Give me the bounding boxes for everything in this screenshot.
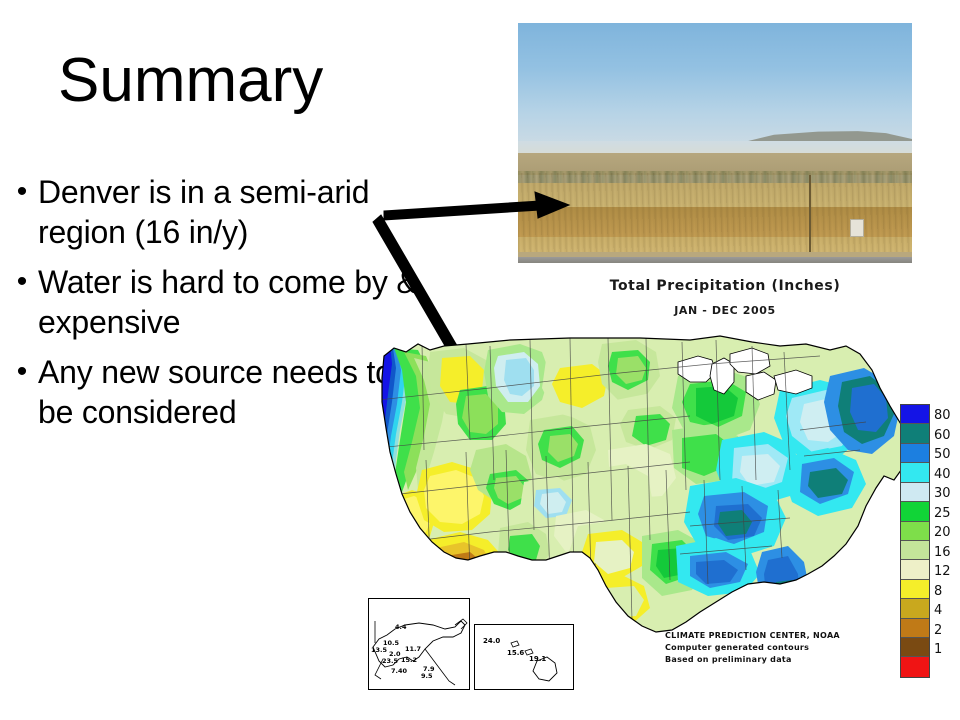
svg-text:13.5: 13.5 — [371, 646, 388, 654]
legend-swatch — [901, 560, 929, 579]
credit-line-2: Computer generated contours — [665, 642, 840, 654]
credit-line-1: CLIMATE PREDICTION CENTER, NOAA — [665, 630, 840, 642]
legend-label: 30 — [934, 484, 960, 504]
legend-label: 1 — [934, 640, 960, 660]
legend-swatch — [901, 444, 929, 463]
svg-text:24.0: 24.0 — [483, 637, 500, 645]
slide-canvas: Summary • Denver is in a semi-arid regio… — [0, 0, 960, 720]
legend-swatch — [901, 638, 929, 657]
list-item: • Denver is in a semi-arid region (16 in… — [6, 172, 426, 252]
svg-text:23.5: 23.5 — [382, 657, 399, 665]
hawaii-inset: 24.0 15.6 19.1 — [474, 624, 574, 690]
svg-text:15.2: 15.2 — [401, 656, 417, 664]
bullet-marker-icon: • — [6, 172, 38, 212]
legend-label: 20 — [934, 523, 960, 543]
legend-label: 8 — [934, 582, 960, 602]
legend-labels: 80 60 50 40 30 25 20 16 12 8 4 2 1 — [934, 406, 960, 660]
legend-swatch — [901, 424, 929, 443]
svg-text:15.6: 15.6 — [507, 649, 524, 657]
svg-text:7.40: 7.40 — [391, 667, 408, 675]
precipitation-map-figure: Total Precipitation (Inches) JAN - DEC 2… — [360, 268, 960, 720]
photo-utility-pole — [809, 175, 811, 255]
bullet-text: Denver is in a semi-arid region (16 in/y… — [38, 172, 426, 252]
legend-swatch — [901, 502, 929, 521]
legend-swatch — [901, 405, 929, 424]
landscape-photo — [518, 23, 912, 263]
photo-grass-texture — [518, 173, 912, 257]
credit-line-3: Based on preliminary data — [665, 654, 840, 666]
legend-swatch — [901, 463, 929, 482]
legend-swatch — [901, 541, 929, 560]
legend-colorbar — [900, 404, 930, 678]
svg-text:9.5: 9.5 — [421, 672, 433, 680]
map-credit: CLIMATE PREDICTION CENTER, NOAA Computer… — [665, 630, 840, 666]
legend-swatch — [901, 619, 929, 638]
legend-label: 60 — [934, 426, 960, 446]
svg-text:4.4: 4.4 — [395, 623, 407, 631]
alaska-inset: 4.4 10.5 13.5 2.0 11.7 23.5 15.2 7.40 7.… — [368, 598, 470, 690]
map-title: Total Precipitation (Inches) — [565, 278, 885, 294]
bullet-marker-icon: • — [6, 352, 38, 392]
legend-swatch — [901, 483, 929, 502]
legend-label: 80 — [934, 406, 960, 426]
legend-label: 40 — [934, 465, 960, 485]
legend-label: 16 — [934, 543, 960, 563]
photo-road — [518, 257, 912, 263]
legend-label: 50 — [934, 445, 960, 465]
legend-label: 12 — [934, 562, 960, 582]
legend-label: 2 — [934, 621, 960, 641]
legend-swatch — [901, 657, 929, 676]
legend-swatch — [901, 522, 929, 541]
svg-text:11.7: 11.7 — [405, 645, 421, 653]
legend-swatch — [901, 599, 929, 618]
page-title: Summary — [58, 50, 323, 112]
map-legend: 80 60 50 40 30 25 20 16 12 8 4 2 1 — [900, 404, 958, 684]
legend-label: 4 — [934, 601, 960, 621]
photo-roadside-box — [850, 219, 864, 237]
bullet-marker-icon: • — [6, 262, 38, 302]
legend-swatch — [901, 580, 929, 599]
map-subtitle: JAN - DEC 2005 — [565, 304, 885, 317]
legend-label: 25 — [934, 504, 960, 524]
svg-text:19.1: 19.1 — [529, 655, 546, 663]
